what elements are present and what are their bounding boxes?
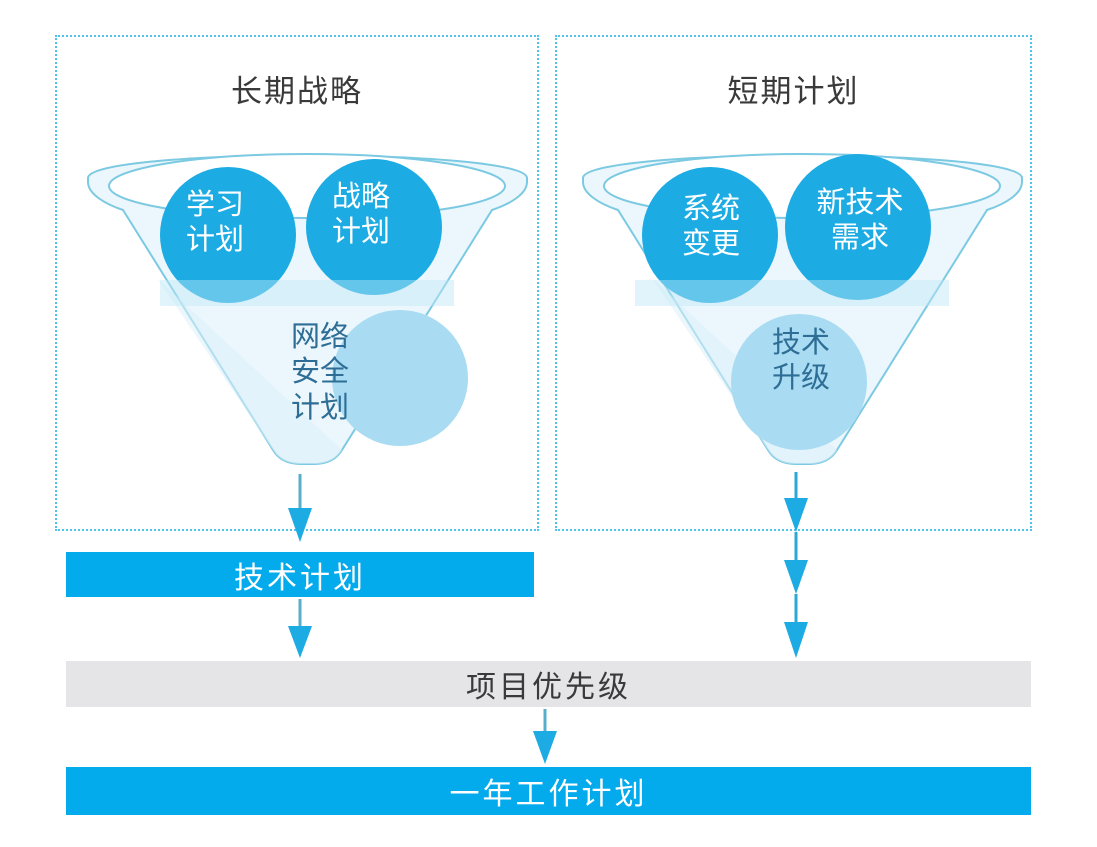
panel-long-term-title: 长期战略 — [55, 66, 539, 111]
diagram-canvas: 长期战略 学习 计划 战略 计划 网络 安全 计划 短期计划 — [0, 0, 1097, 847]
funnel-long-term — [80, 120, 535, 485]
bar-tech-plan-label: 技术计划 — [234, 553, 366, 597]
bar-project-priority-label: 项目优先级 — [466, 662, 631, 706]
arrow-priority-to-one-year-plan — [533, 709, 557, 764]
arrow-tech-plan-to-priority — [288, 599, 312, 658]
bar-one-year-plan-label: 一年工作计划 — [450, 769, 648, 813]
panel-short-term-title: 短期计划 — [555, 66, 1032, 111]
bar-project-priority[interactable]: 项目优先级 — [66, 661, 1031, 707]
bar-tech-plan[interactable]: 技术计划 — [66, 552, 534, 597]
funnel-short-term — [575, 120, 1030, 485]
bar-one-year-plan[interactable]: 一年工作计划 — [66, 767, 1031, 815]
